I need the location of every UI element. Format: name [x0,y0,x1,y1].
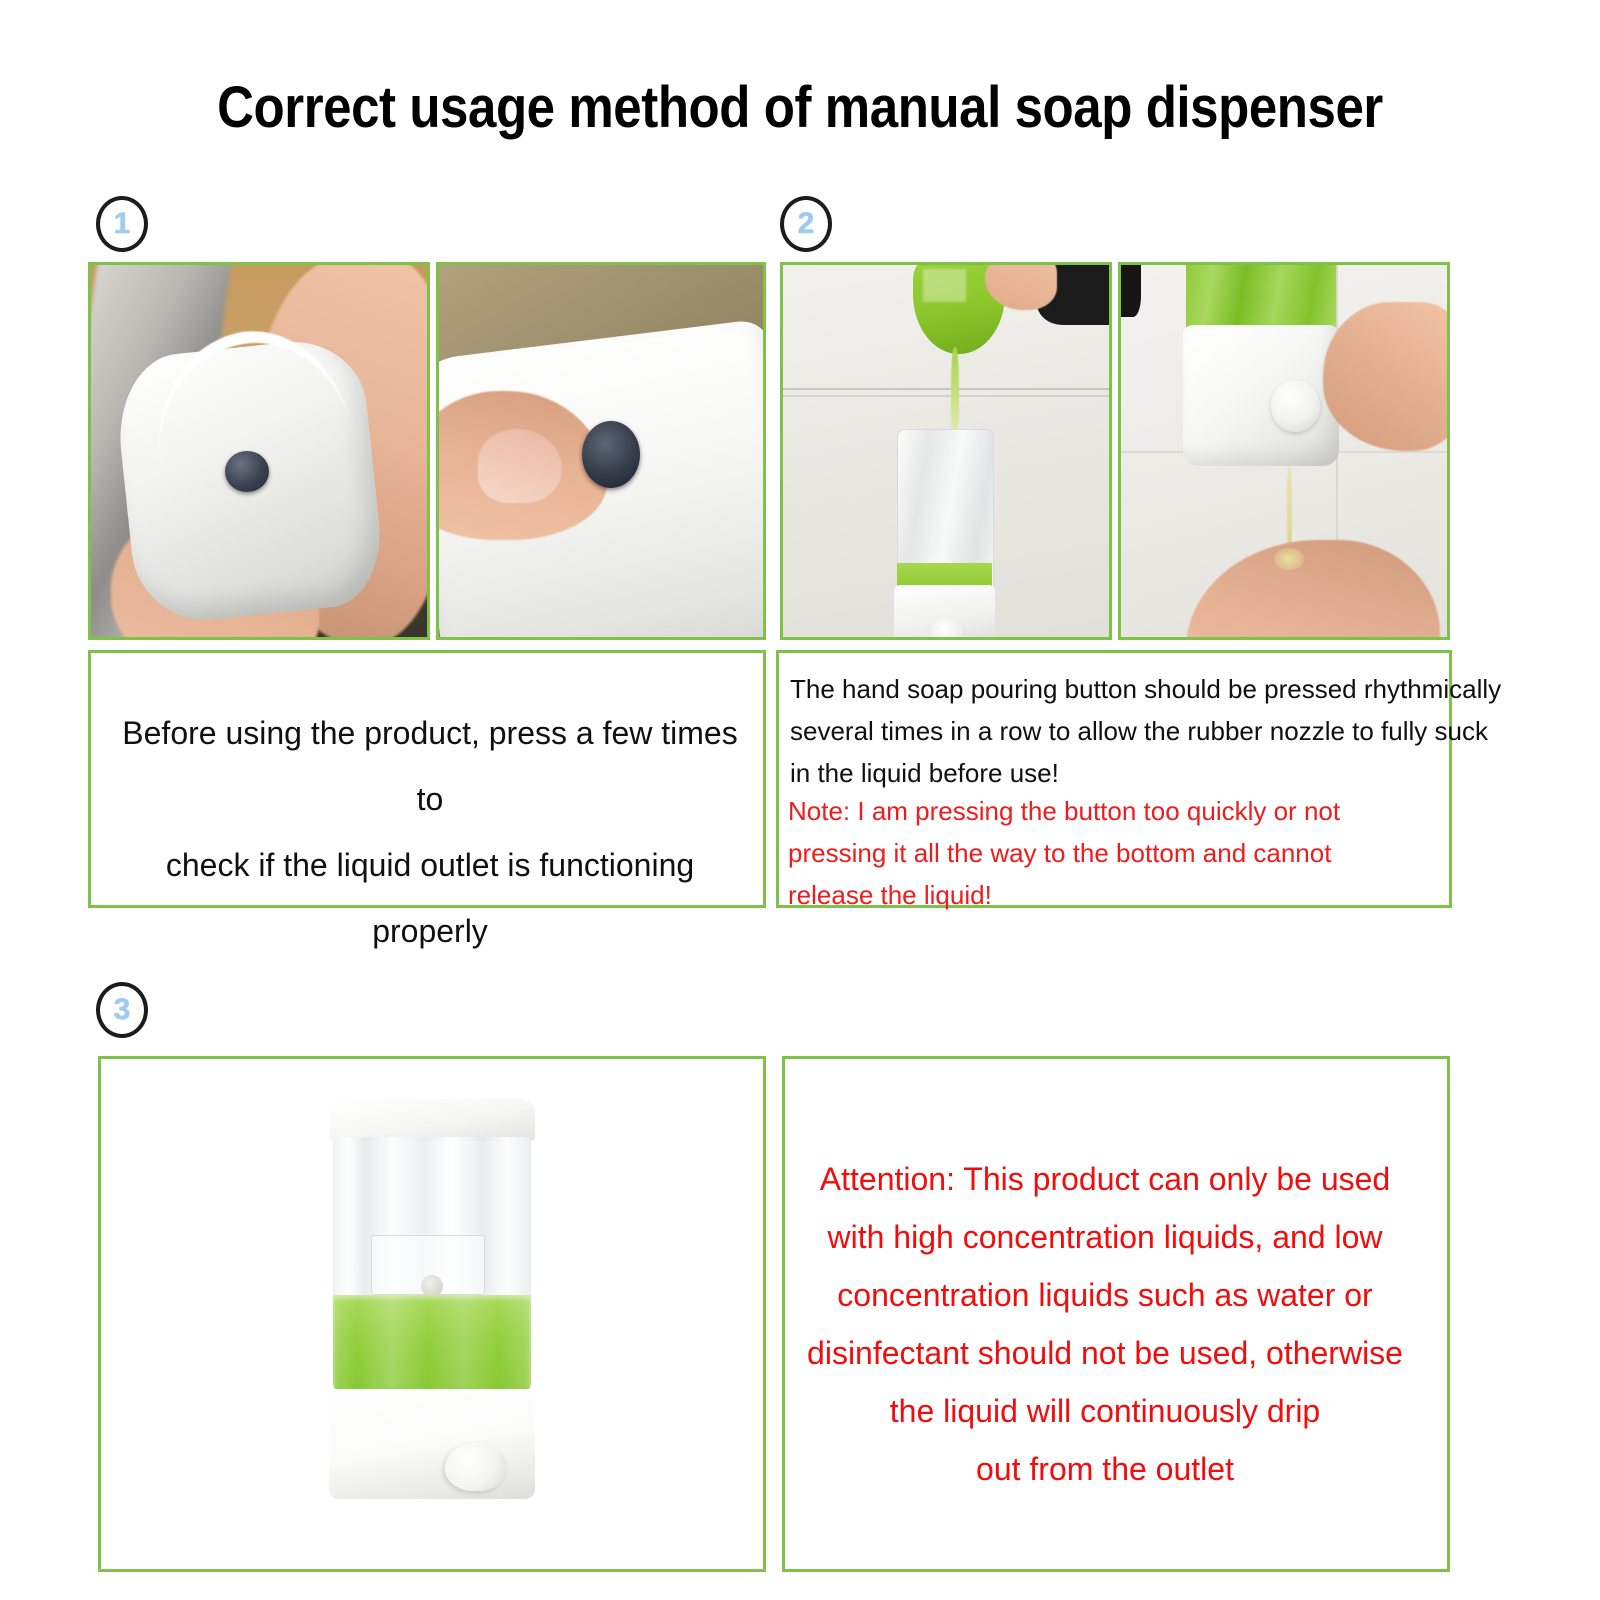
step2-note-line-3: release the liquid! [788,874,1448,916]
product-white-base [329,1389,535,1499]
step3-attention-line-5: the liquid will continuously drip [800,1382,1410,1440]
step3-attention-line-2: with high concentration liquids, and low [800,1208,1410,1266]
photo2-rubber-nozzle [582,421,640,488]
step-badge-2: 2 [780,196,832,252]
step1-caption-line-1: Before using the product, press a few ti… [110,700,750,832]
step2-caption-line-2: several times in a row to allow the rubb… [790,710,1450,752]
step-badge-1-number: 1 [114,209,131,239]
step1-caption: Before using the product, press a few ti… [110,700,750,964]
step3-attention-line-3: concentration liquids such as water or [800,1266,1410,1324]
photo3-dispenser-button [930,618,966,640]
photo3-tile-grout-line-2 [783,395,1109,397]
step2-photo-1 [780,262,1112,640]
step2-note: Note: I am pressing the button too quick… [788,790,1448,916]
step-badge-1: 1 [96,196,148,252]
photo4-dispenser-button [1271,380,1320,432]
step2-note-line-1: Note: I am pressing the button too quick… [788,790,1448,832]
step3-attention-line-4: disinfectant should not be used, otherwi… [800,1324,1410,1382]
step3-product-box [98,1056,766,1572]
product-inner-valve [421,1275,443,1297]
step3-attention-line-6: out from the outlet [800,1440,1410,1498]
step2-caption-line-3: in the liquid before use! [790,752,1450,794]
step1-photo-1 [88,262,430,640]
photo3-tile-grout-line [783,388,1109,390]
step-badge-3: 3 [96,982,148,1038]
step2-note-line-2: pressing it all the way to the bottom an… [788,832,1448,874]
step1-caption-line-2: check if the liquid outlet is functionin… [110,832,750,964]
step2-caption: The hand soap pouring button should be p… [790,668,1450,794]
photo4-dark-corner [1121,265,1141,317]
step3-attention-text: Attention: This product can only be used… [800,1150,1410,1498]
step-badge-3-number: 3 [114,995,131,1025]
step2-caption-line-1: The hand soap pouring button should be p… [790,668,1450,710]
step3-attention-line-1: Attention: This product can only be used [800,1150,1410,1208]
photo4-soap-pool [1274,548,1303,570]
page-title: Correct usage method of manual soap disp… [96,74,1504,141]
product-push-button [445,1443,507,1491]
step-badge-2-number: 2 [798,209,815,239]
photo1-rubber-nozzle [225,451,269,492]
step1-photo-2 [436,262,766,640]
photo4-dispenser-reservoir-green [1186,262,1336,332]
product-cap [329,1099,535,1141]
product-liquid-sheen [333,1295,531,1393]
product-dispenser-illustration [327,1099,537,1499]
step2-photo-2 [1118,262,1450,640]
photo3-bottle-label [923,269,965,302]
